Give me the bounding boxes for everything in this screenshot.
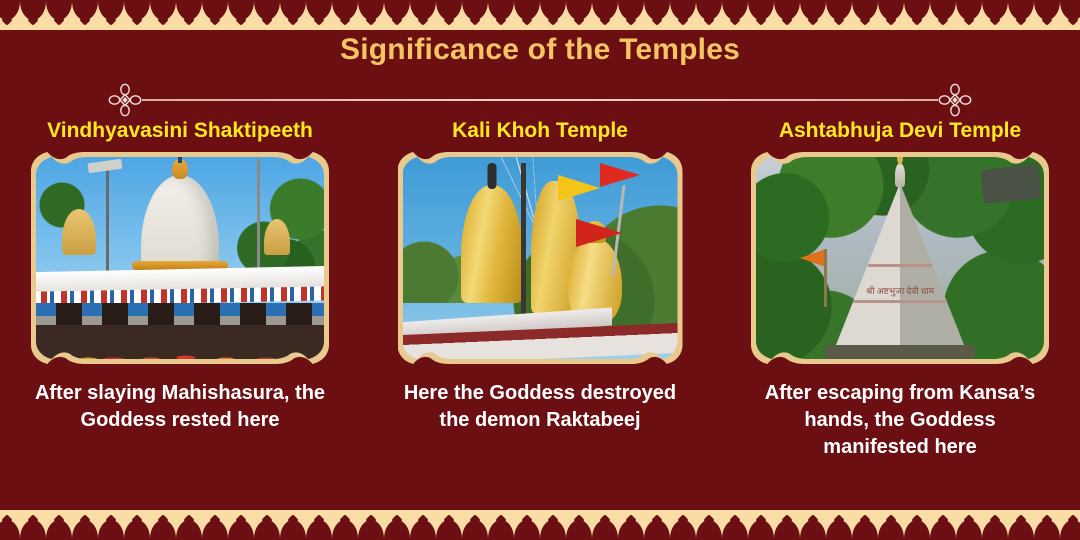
scallop-motif (410, 510, 436, 540)
scallop-motif (488, 510, 514, 540)
scallop-motif (852, 0, 878, 30)
scallop-motif (956, 0, 982, 30)
temple-card-kali-khoh: Kali Khoh Temple (360, 118, 720, 498)
scallop-motif (696, 0, 722, 30)
temple-columns: Vindhyavasini Shaktipeeth (0, 118, 1080, 498)
temple-card-vindhyavasini: Vindhyavasini Shaktipeeth (0, 118, 360, 498)
scallop-motif (514, 510, 540, 540)
scallop-motif (800, 510, 826, 540)
scallop-motif (956, 510, 982, 540)
scallop-motif (358, 0, 384, 30)
scallop-motif (722, 0, 748, 30)
vindhyavasini-shaktipeeth-photo (36, 157, 324, 359)
scallop-motif (618, 0, 644, 30)
scallop-motif (280, 510, 306, 540)
scallop-motif (644, 0, 670, 30)
scallop-motif (436, 510, 462, 540)
scallop-motif (904, 0, 930, 30)
scallop-motif (1060, 0, 1080, 30)
spire-inscription: श्री अष्टभुजा देवी धाम (866, 284, 934, 297)
scallop-motif (98, 0, 124, 30)
scallop-motif (800, 0, 826, 30)
scallop-motif (1034, 510, 1060, 540)
page-title: Significance of the Temples (0, 30, 1080, 70)
scallop-motif (98, 510, 124, 540)
temple-image-frame (398, 152, 683, 364)
ornament-icon (108, 83, 142, 117)
scallop-motif (72, 510, 98, 540)
scallop-motif (982, 510, 1008, 540)
scallop-motif (410, 0, 436, 30)
scallop-motif (722, 510, 748, 540)
scallop-motif (124, 510, 150, 540)
scallop-motif (592, 0, 618, 30)
ornament-icon (938, 83, 972, 117)
scallop-motif (46, 0, 72, 30)
temple-card-ashtabhuja: Ashtabhuja Devi Temple श्री अष्टभुजा देव… (720, 118, 1080, 498)
scallop-motif (462, 510, 488, 540)
scallop-motif (150, 0, 176, 30)
scallop-motif (566, 0, 592, 30)
scallop-motif (1060, 510, 1080, 540)
kali-khoh-temple-photo (403, 157, 678, 359)
scallop-motif (150, 510, 176, 540)
temple-caption: After slaying Mahishasura, the Goddess r… (30, 380, 330, 434)
scallop-motif (436, 0, 462, 30)
poster-canvas: Significance of the Temples (0, 0, 1080, 540)
scallop-motif (176, 0, 202, 30)
top-decorative-border (0, 0, 1080, 30)
scallop-motif (358, 510, 384, 540)
scallop-motif (306, 510, 332, 540)
scallop-motif (566, 510, 592, 540)
scallop-motif (1034, 0, 1060, 30)
scallop-motif (644, 510, 670, 540)
scallop-motif (46, 510, 72, 540)
scallop-motif (254, 0, 280, 30)
scallop-motif (774, 0, 800, 30)
scallop-motif (540, 0, 566, 30)
scallop-motif (462, 0, 488, 30)
scallop-motif (696, 510, 722, 540)
scallop-motif (306, 0, 332, 30)
scallop-motif (124, 0, 150, 30)
scallop-motif (774, 510, 800, 540)
scallop-motif (1008, 510, 1034, 540)
scallop-motif (904, 510, 930, 540)
scallop-motif (540, 510, 566, 540)
scallop-motif (930, 0, 956, 30)
scallop-motif (748, 0, 774, 30)
scallop-motif (332, 510, 358, 540)
scallop-motif (1008, 0, 1034, 30)
scallop-motif (592, 510, 618, 540)
scallop-motif (878, 0, 904, 30)
scallop-motif (20, 510, 46, 540)
temple-heading: Vindhyavasini Shaktipeeth (47, 118, 313, 152)
scallop-motif (332, 0, 358, 30)
temple-image-frame: श्री अष्टभुजा देवी धाम (751, 152, 1049, 364)
scallop-motif (384, 510, 410, 540)
scallop-motif (72, 0, 98, 30)
temple-caption: After escaping from Kansa’s hands, the G… (750, 380, 1050, 461)
scallop-motif (228, 510, 254, 540)
divider-line (142, 99, 938, 101)
ashtabhuja-devi-temple-photo: श्री अष्टभुजा देवी धाम (756, 157, 1044, 359)
scallop-motif (0, 510, 20, 540)
temple-image-frame (31, 152, 329, 364)
scallop-motif (202, 0, 228, 30)
scallop-motif (852, 510, 878, 540)
temple-heading: Kali Khoh Temple (452, 118, 628, 152)
scallop-motif (20, 0, 46, 30)
scallop-motif (618, 510, 644, 540)
scallop-motif (878, 510, 904, 540)
scallop-motif (384, 0, 410, 30)
scallop-motif (228, 0, 254, 30)
scallop-motif (514, 0, 540, 30)
scallop-motif (982, 0, 1008, 30)
scallop-motif (202, 510, 228, 540)
scallop-motif (826, 510, 852, 540)
scallop-motif (280, 0, 306, 30)
scallop-motif (254, 510, 280, 540)
scallop-motif (748, 510, 774, 540)
scallop-motif (670, 0, 696, 30)
scallop-motif (930, 510, 956, 540)
scallop-motif (826, 0, 852, 30)
scallop-motif (670, 510, 696, 540)
scallop-motif (488, 0, 514, 30)
temple-caption: Here the Goddess destroyed the demon Rak… (390, 380, 690, 434)
scallop-motif (176, 510, 202, 540)
decorative-divider (108, 83, 972, 117)
bottom-decorative-border (0, 510, 1080, 540)
temple-heading: Ashtabhuja Devi Temple (779, 118, 1021, 152)
scallop-motif (0, 0, 20, 30)
